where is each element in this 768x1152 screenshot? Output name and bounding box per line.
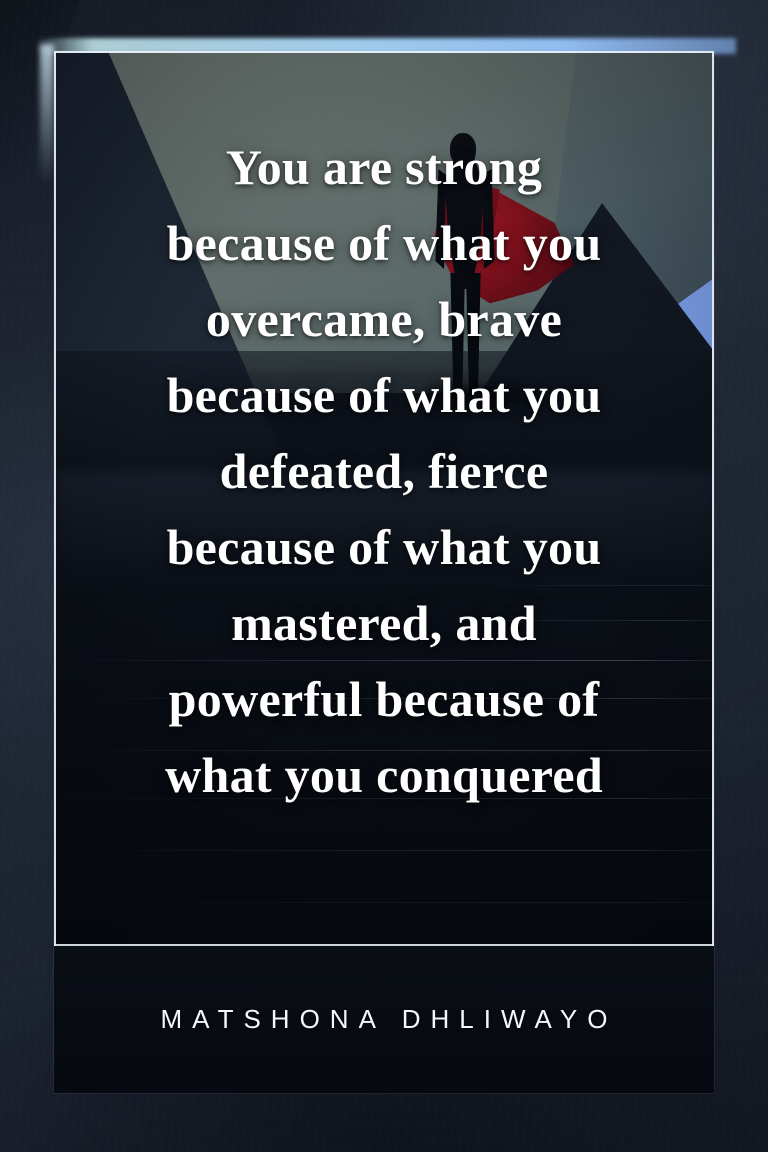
quote-line: overcame, brave bbox=[206, 281, 562, 357]
author-name: MATSHONA DHLIWAYO bbox=[151, 1004, 618, 1035]
quote-line: powerful because of bbox=[169, 661, 600, 737]
attribution-divider bbox=[54, 944, 714, 946]
quote-line: because of what you bbox=[167, 357, 602, 433]
quote-line: defeated, fierce bbox=[220, 433, 549, 509]
quote-block: You are strong because of what you overc… bbox=[54, 51, 714, 891]
quote-line: mastered, and bbox=[231, 585, 537, 661]
quote-line: what you conquered bbox=[165, 737, 603, 813]
quote-line: because of what you bbox=[167, 509, 602, 585]
quote-line: You are strong bbox=[226, 129, 542, 205]
attribution-panel: MATSHONA DHLIWAYO bbox=[54, 946, 714, 1093]
quote-line: because of what you bbox=[167, 205, 602, 281]
frame-left-glow bbox=[40, 44, 54, 184]
